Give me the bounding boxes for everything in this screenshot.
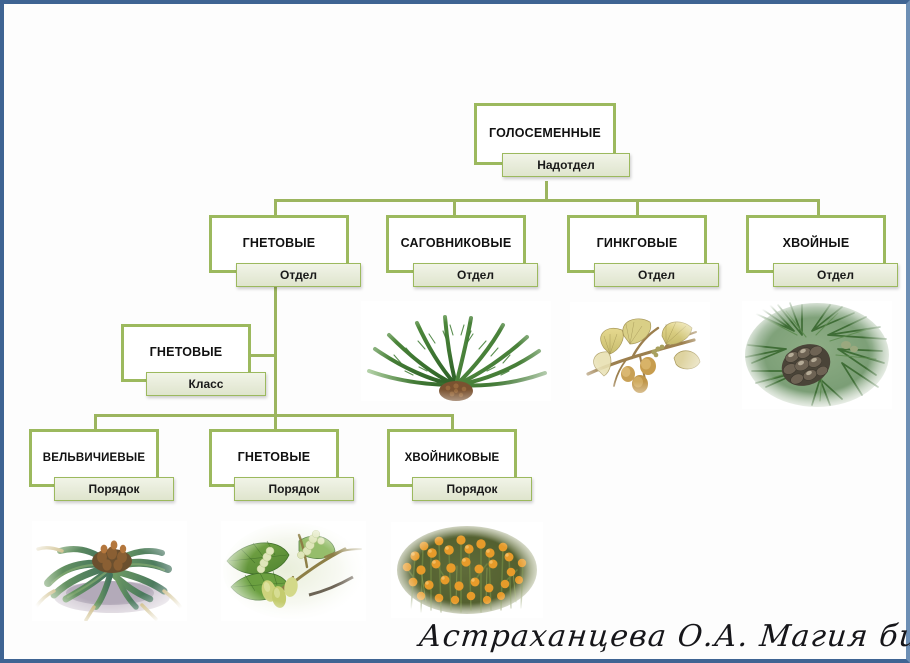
connector-gnetovye-spine [274,287,277,416]
connector-drop-gnetovye-order [274,414,277,429]
node-gnetovye-otdel[interactable]: ГНЕТОВЫЕ Отдел [209,215,349,289]
node-ginkgovye-otdel-rank: Отдел [594,263,719,287]
node-sagovnikovye-otdel-rank: Отдел [413,263,538,287]
ginkgo-branch-photo [570,302,710,400]
node-hvoynikovye-poryadok[interactable]: ХВОЙНИКОВЫЕ Порядок [387,429,517,503]
connector-drop-hvoynye [817,199,820,215]
slide-frame: ГОЛОСЕМЕННЫЕ Надотдел ГНЕТОВЫЕ Отдел САГ… [0,0,910,663]
connector-drop-gnetovye [274,199,277,215]
node-golosemennye[interactable]: ГОЛОСЕМЕННЫЕ Надотдел [474,103,616,181]
pine-cone-photo [742,301,892,409]
node-gnetovye-poryadok[interactable]: ГНЕТОВЫЕ Порядок [209,429,339,503]
sago-palm-photo [361,301,551,401]
connector-level2-bar [274,199,820,202]
node-sagovnikovye-otdel[interactable]: САГОВНИКОВЫЕ Отдел [386,215,526,289]
node-ginkgovye-otdel[interactable]: ГИНКГОВЫЕ Отдел [567,215,707,289]
node-velvichievye-poryadok-rank: Порядок [54,477,174,501]
gnetum-photo [221,521,366,621]
node-gnetovye-klass-rank: Класс [146,372,266,396]
author-signature: Астраханцева О.А. Магия биологии [417,619,910,654]
welwitschia-photo [32,521,187,621]
node-hvoynye-otdel-rank: Отдел [773,263,898,287]
diagram-canvas: ГОЛОСЕМЕННЫЕ Надотдел ГНЕТОВЫЕ Отдел САГ… [4,4,906,659]
node-hvoynye-otdel[interactable]: ХВОЙНЫЕ Отдел [746,215,886,289]
connector-drop-ginkgovye [636,199,639,215]
node-golosemennye-rank: Надотдел [502,153,630,177]
connector-drop-hvoynikovye [451,414,454,429]
connector-drop-velvichievye [94,414,97,429]
connector-drop-sagovnikovye [453,199,456,215]
node-velvichievye-poryadok[interactable]: ВЕЛЬВИЧИЕВЫЕ Порядок [29,429,159,503]
node-gnetovye-otdel-rank: Отдел [236,263,361,287]
node-gnetovye-poryadok-rank: Порядок [234,477,354,501]
node-hvoynikovye-poryadok-rank: Порядок [412,477,532,501]
connector-root-down [545,181,548,201]
ephedra-photo [391,522,543,618]
node-gnetovye-klass[interactable]: ГНЕТОВЫЕ Класс [121,324,251,398]
connector-to-class [249,354,277,357]
